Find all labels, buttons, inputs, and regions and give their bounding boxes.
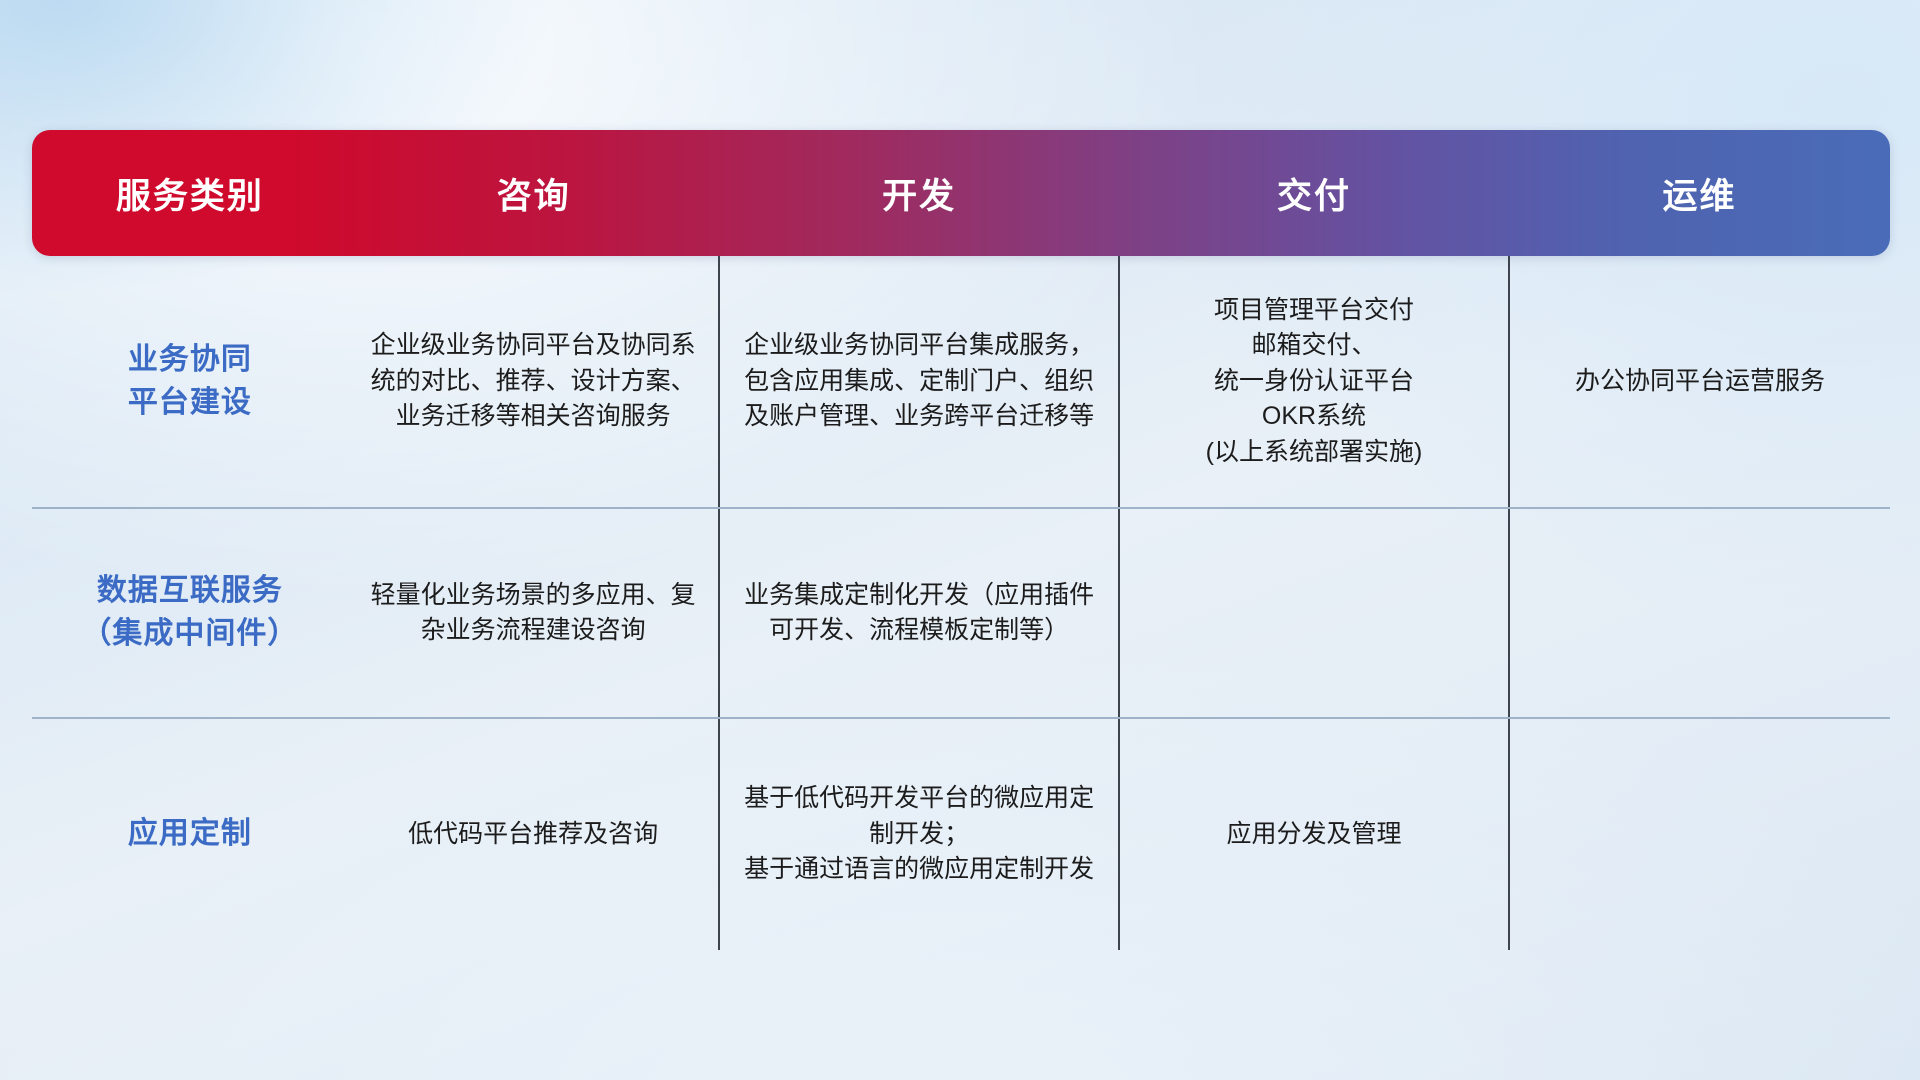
table-body: 业务协同 平台建设 企业级业务协同平台及协同系 统的对比、推荐、设计方案、 业务… [32, 256, 1890, 950]
cell-delivery: 项目管理平台交付 邮箱交付、 统一身份认证平台 OKR系统 (以上系统部署实施) [1119, 256, 1509, 508]
cell-development: 企业级业务协同平台集成服务， 包含应用集成、定制门户、组织 及账户管理、业务跨平… [719, 256, 1118, 508]
service-matrix-card: 服务类别 咨询 开发 交付 运维 [32, 130, 1890, 950]
column-header-label: 服务类别 [116, 168, 264, 219]
cell-operations [1509, 508, 1890, 718]
cell-development: 基于低代码开发平台的微应用定 制开发； 基于通过语言的微应用定制开发 [719, 718, 1118, 950]
cell-operations: 办公协同平台运营服务 [1509, 256, 1890, 508]
cell-development: 业务集成定制化开发（应用插件 可开发、流程模板定制等） [719, 508, 1118, 718]
column-header-label: 咨询 [497, 168, 571, 219]
row-label-application-customization: 应用定制 [32, 718, 348, 950]
table-header-row: 服务类别 咨询 开发 交付 运维 [32, 130, 1890, 256]
cell-delivery: 应用分发及管理 [1119, 718, 1509, 950]
column-header-consulting[interactable]: 咨询 [348, 130, 720, 256]
column-header-delivery[interactable]: 交付 [1119, 130, 1509, 256]
table-row: 业务协同 平台建设 企业级业务协同平台及协同系 统的对比、推荐、设计方案、 业务… [32, 256, 1890, 508]
service-matrix-table: 服务类别 咨询 开发 交付 运维 [32, 130, 1890, 950]
column-header-development[interactable]: 开发 [719, 130, 1118, 256]
column-header-label: 运维 [1663, 168, 1737, 219]
column-header-operations[interactable]: 运维 [1509, 130, 1890, 256]
table-row: 数据互联服务 （集成中间件） 轻量化业务场景的多应用、复 杂业务流程建设咨询 业… [32, 508, 1890, 718]
row-label-business-collaboration: 业务协同 平台建设 [32, 256, 348, 508]
row-label-data-interconnect-service: 数据互联服务 （集成中间件） [32, 508, 348, 718]
column-header-service-category[interactable]: 服务类别 [32, 130, 348, 256]
cell-consulting: 低代码平台推荐及咨询 [348, 718, 720, 950]
page-root: 服务类别 咨询 开发 交付 运维 [0, 0, 1920, 1080]
cell-consulting: 企业级业务协同平台及协同系 统的对比、推荐、设计方案、 业务迁移等相关咨询服务 [348, 256, 720, 508]
cell-operations [1509, 718, 1890, 950]
table-header: 服务类别 咨询 开发 交付 运维 [32, 130, 1890, 256]
table-row: 应用定制 低代码平台推荐及咨询 基于低代码开发平台的微应用定 制开发； 基于通过… [32, 718, 1890, 950]
cell-consulting: 轻量化业务场景的多应用、复 杂业务流程建设咨询 [348, 508, 720, 718]
column-header-label: 开发 [882, 168, 956, 219]
cell-delivery [1119, 508, 1509, 718]
column-header-label: 交付 [1277, 168, 1351, 219]
